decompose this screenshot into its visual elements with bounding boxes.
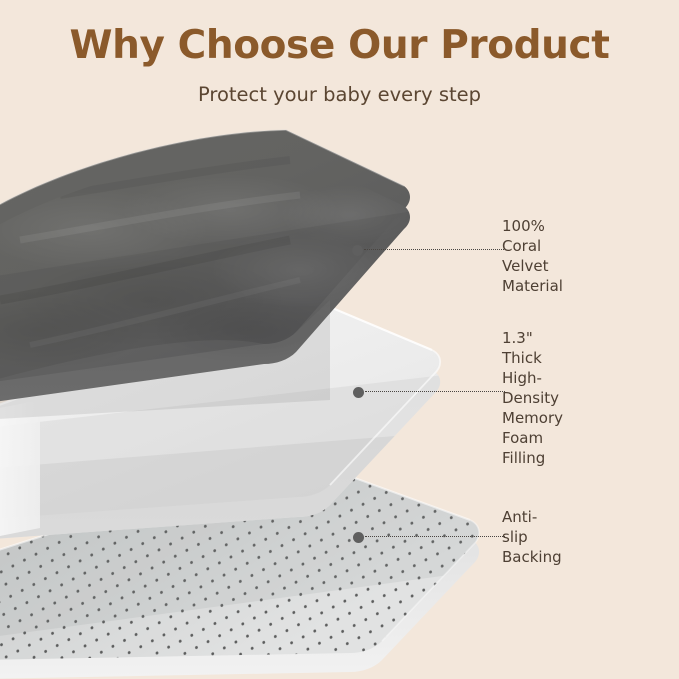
callout-label-memory-foam: 1.3" Thick High-Density Memory Foam Fill… bbox=[502, 328, 563, 468]
callout-marker-dot bbox=[353, 532, 364, 543]
callout-marker-dot bbox=[353, 387, 364, 398]
header: Why Choose Our Product Protect your baby… bbox=[0, 0, 679, 106]
callout-leader-line bbox=[365, 536, 505, 537]
callout-marker-dot bbox=[352, 245, 363, 256]
page-subtitle: Protect your baby every step bbox=[0, 68, 679, 106]
callout-label-coral-velvet: 100% Coral Velvet Material bbox=[502, 216, 563, 296]
callout-leader-line bbox=[365, 391, 505, 392]
callout-label-anti-slip: Anti-slip Backing bbox=[502, 507, 562, 567]
product-infographic: Why Choose Our Product Protect your baby… bbox=[0, 0, 679, 679]
page-title: Why Choose Our Product bbox=[0, 0, 679, 68]
callout-leader-line bbox=[364, 249, 504, 250]
